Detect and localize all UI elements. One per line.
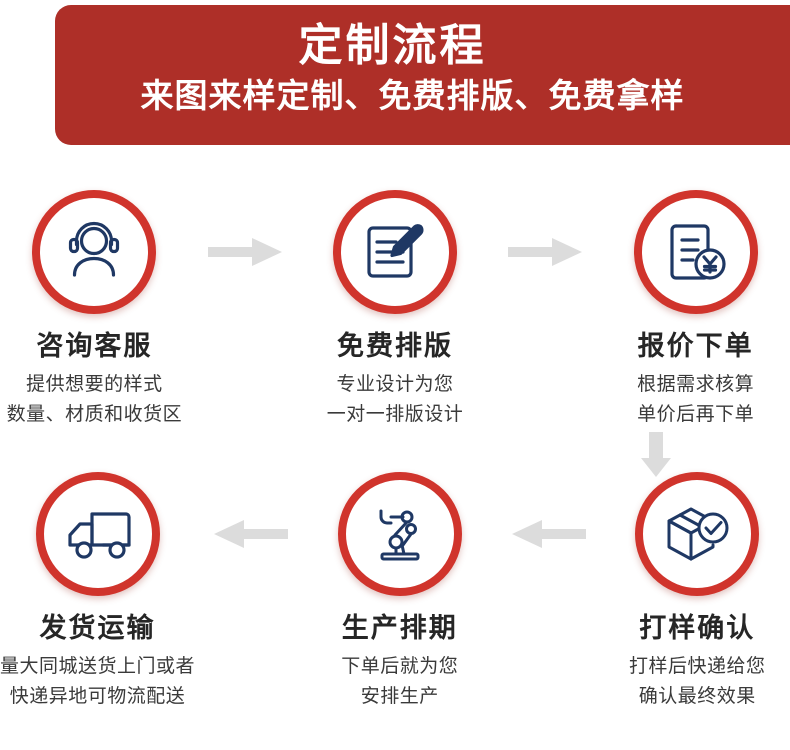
flow-step-3-desc-line1: 根据需求核算: [637, 370, 754, 400]
flow-step-1-desc-line1: 提供想要的样式: [26, 370, 163, 400]
banner-title: 定制流程: [55, 19, 790, 73]
flow-step-2-circle: [333, 190, 457, 314]
flow-step-1-desc-line2: 数量、材质和收货区: [7, 400, 183, 430]
flow-step-6-desc-line2: 快递异地可物流配送: [10, 682, 186, 712]
arrow-right-icon: [508, 237, 582, 267]
header-banner: 定制流程 来图来样定制、免费排版、免费拿样: [55, 5, 790, 145]
arrow-right-icon: [208, 237, 282, 267]
flow-step-2[interactable]: 免费排版 专业设计为您 一对一排版设计: [301, 190, 490, 430]
invoice-yuan-icon: [664, 220, 728, 284]
flow-step-6-circle: [36, 472, 160, 596]
flow-arrow-slot-4: [493, 472, 605, 596]
flow-step-2-title: 免费排版: [337, 330, 453, 362]
flow-step-5-desc-line2: 安排生产: [361, 682, 439, 712]
banner-subtitle: 来图来样定制、免费排版、免费拿样: [55, 73, 790, 119]
flow-step-1[interactable]: 咨询客服 提供想要的样式 数量、材质和收货区: [0, 190, 189, 430]
flow-step-4-title: 打样确认: [639, 612, 755, 644]
flow-step-5-desc-line1: 下单后就为您: [341, 652, 458, 682]
flow-step-4[interactable]: 打样确认 打样后快递给您 确认最终效果: [605, 472, 790, 712]
flow-step-4-desc-line1: 打样后快递给您: [629, 652, 766, 682]
flow-step-3-circle: [634, 190, 758, 314]
document-pen-icon: [363, 220, 427, 284]
arrow-left-icon: [214, 519, 288, 549]
flow-step-6-desc-line1: 量大同城送货上门或者: [0, 652, 195, 682]
flow-step-4-desc-line2: 确认最终效果: [639, 682, 756, 712]
flow-arrow-slot-2: [489, 190, 601, 314]
flow-arrow-slot-1: [189, 190, 301, 314]
flow-step-6[interactable]: 发货运输 量大同城送货上门或者 快递异地可物流配送: [0, 472, 195, 712]
flow-step-1-circle: [32, 190, 156, 314]
flow-step-2-desc-line2: 一对一排版设计: [327, 400, 464, 430]
headset-support-icon: [59, 217, 129, 287]
robot-arm-icon: [368, 502, 432, 566]
flow-step-1-title: 咨询客服: [36, 330, 152, 362]
flow-step-6-title: 发货运输: [40, 612, 156, 644]
flow-step-5[interactable]: 生产排期 下单后就为您 安排生产: [307, 472, 492, 712]
flow-row-top: 咨询客服 提供想要的样式 数量、材质和收货区: [0, 190, 790, 468]
flow-step-5-circle: [338, 472, 462, 596]
box-check-icon: [663, 503, 731, 565]
flow-arrow-slot-3: [195, 472, 307, 596]
flow-row-bottom: 发货运输 量大同城送货上门或者 快递异地可物流配送: [0, 472, 790, 750]
flow-step-2-desc-line1: 专业设计为您: [337, 370, 454, 400]
flow-step-3-desc-line2: 单价后再下单: [637, 400, 754, 430]
delivery-truck-icon: [64, 504, 132, 564]
flow-step-4-circle: [635, 472, 759, 596]
flow-step-3-title: 报价下单: [638, 330, 754, 362]
arrow-left-icon: [512, 519, 586, 549]
process-flow-diagram: 咨询客服 提供想要的样式 数量、材质和收货区: [0, 160, 790, 742]
flow-step-5-title: 生产排期: [342, 612, 458, 644]
flow-step-3[interactable]: 报价下单 根据需求核算 单价后再下单: [601, 190, 790, 430]
